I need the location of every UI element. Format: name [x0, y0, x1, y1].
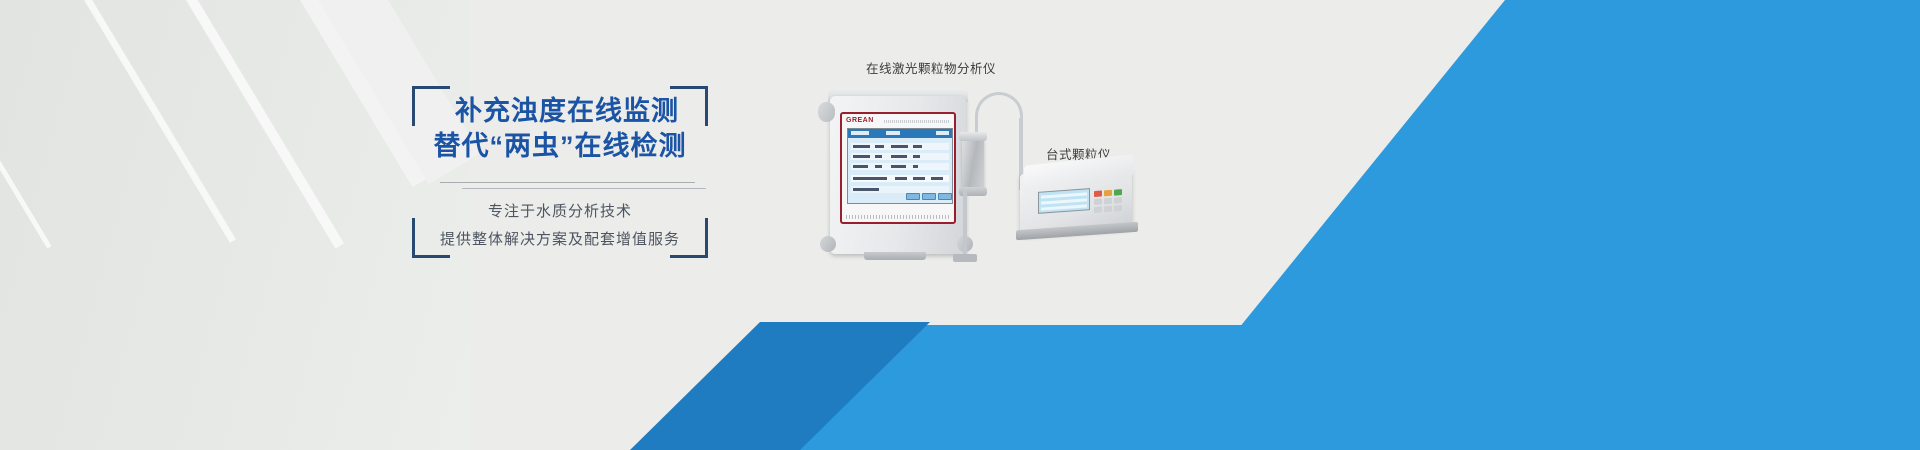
benchtop-keypad	[1094, 189, 1124, 213]
headline-line-1: 补充浊度在线监测	[412, 94, 708, 129]
benchtop-screen	[1038, 188, 1090, 214]
subtitle: 专注于水质分析技术 提供整体解决方案及配套增值服务	[412, 198, 708, 254]
promo-banner: 补充浊度在线监测 替代“两虫”在线检测 专注于水质分析技术 提供整体解决方案及配…	[0, 0, 1920, 450]
analyzer-front-panel: GREAN	[840, 112, 956, 224]
page-title: 补充浊度在线监测 替代“两虫”在线检测	[412, 94, 708, 164]
divider	[440, 182, 700, 192]
sensor-module	[962, 138, 984, 190]
device-benchtop-counter	[1020, 160, 1140, 246]
headline-line-2: 替代“两虫”在线检测	[412, 129, 708, 164]
analyzer-screen	[847, 128, 953, 204]
brand-logo: GREAN	[846, 117, 874, 124]
headline-block: 补充浊度在线监测 替代“两虫”在线检测 专注于水质分析技术 提供整体解决方案及配…	[412, 86, 708, 258]
mounting-rod	[963, 190, 967, 262]
product-label-analyzer: 在线激光颗粒物分析仪	[866, 58, 996, 77]
mounting-foot	[953, 254, 977, 262]
subtitle-line-1: 专注于水质分析技术	[412, 198, 708, 226]
device-online-analyzer: GREAN	[818, 86, 978, 264]
subtitle-line-2: 提供整体解决方案及配套增值服务	[412, 226, 708, 254]
